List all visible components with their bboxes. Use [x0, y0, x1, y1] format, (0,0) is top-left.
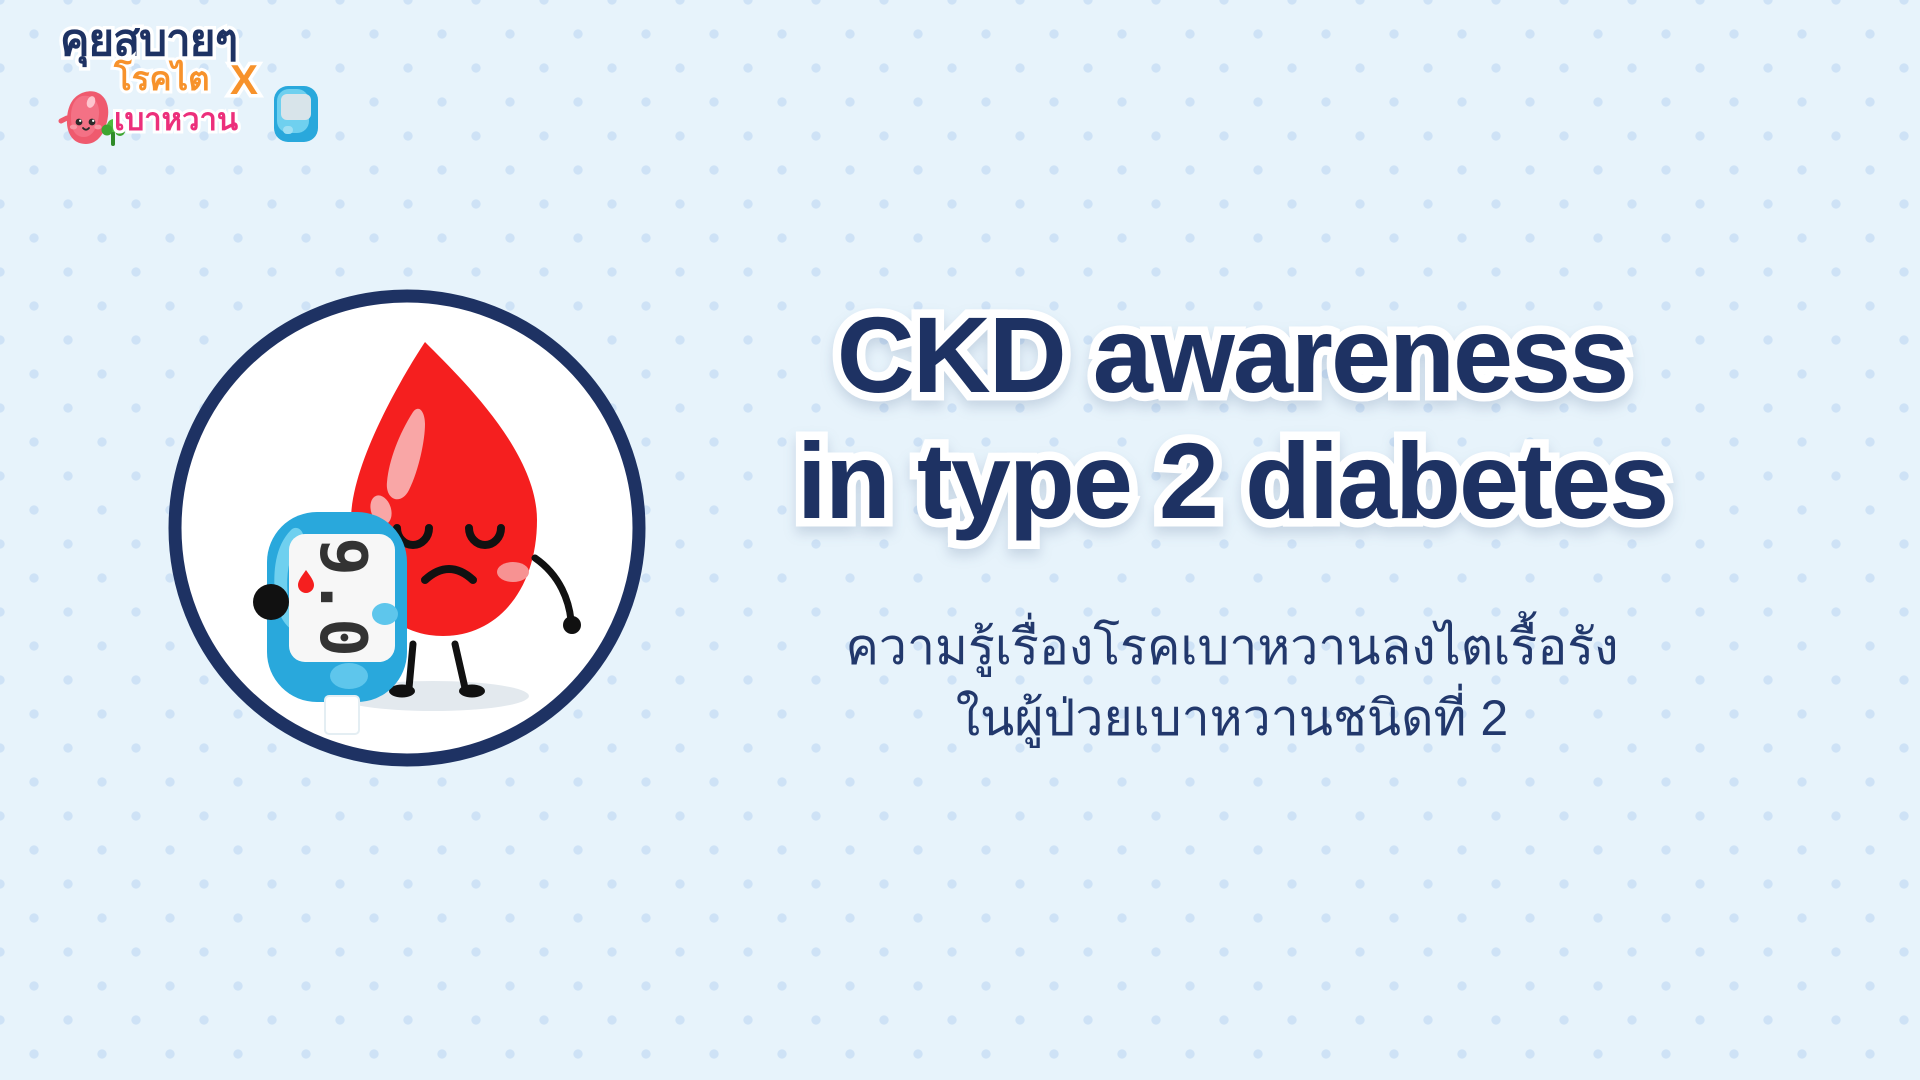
glucometer-reading: 9.0 — [305, 537, 379, 659]
subtitle: ความรู้เรื่องโรคเบาหวานลงไตเรื้อรัง ในผู… — [672, 612, 1792, 754]
logo-separator-x: X — [230, 56, 258, 104]
subtitle-line-1: ความรู้เรื่องโรคเบาหวานลงไตเรื้อรัง — [672, 612, 1792, 683]
logo-line-mid: โรคไต — [114, 62, 210, 97]
glucometer-button-a — [372, 603, 398, 625]
headline-line-2: in type 2 diabetes — [672, 426, 1792, 536]
test-strip — [325, 696, 359, 734]
glucometer-port-icon — [253, 584, 289, 620]
cheek-right — [497, 562, 529, 582]
brand-logo: คุยสบายๆ โรคไต X เบาหวาน — [52, 18, 312, 158]
page-title: CKD awareness in type 2 diabetes — [672, 300, 1792, 536]
svg-text:9.0: 9.0 — [305, 537, 379, 659]
headline-line-1: CKD awareness — [672, 300, 1792, 410]
glucose-meter-icon — [270, 84, 322, 146]
logo-line-bottom: เบาหวาน — [114, 104, 238, 137]
logo-line-top: คุยสบายๆ — [60, 18, 237, 64]
glucometer-button-b — [330, 663, 368, 689]
subtitle-line-2: ในผู้ป่วยเบาหวานชนิดที่ 2 — [672, 683, 1792, 754]
illustration-blood-drop-glucometer: 9.0 — [163, 284, 651, 772]
